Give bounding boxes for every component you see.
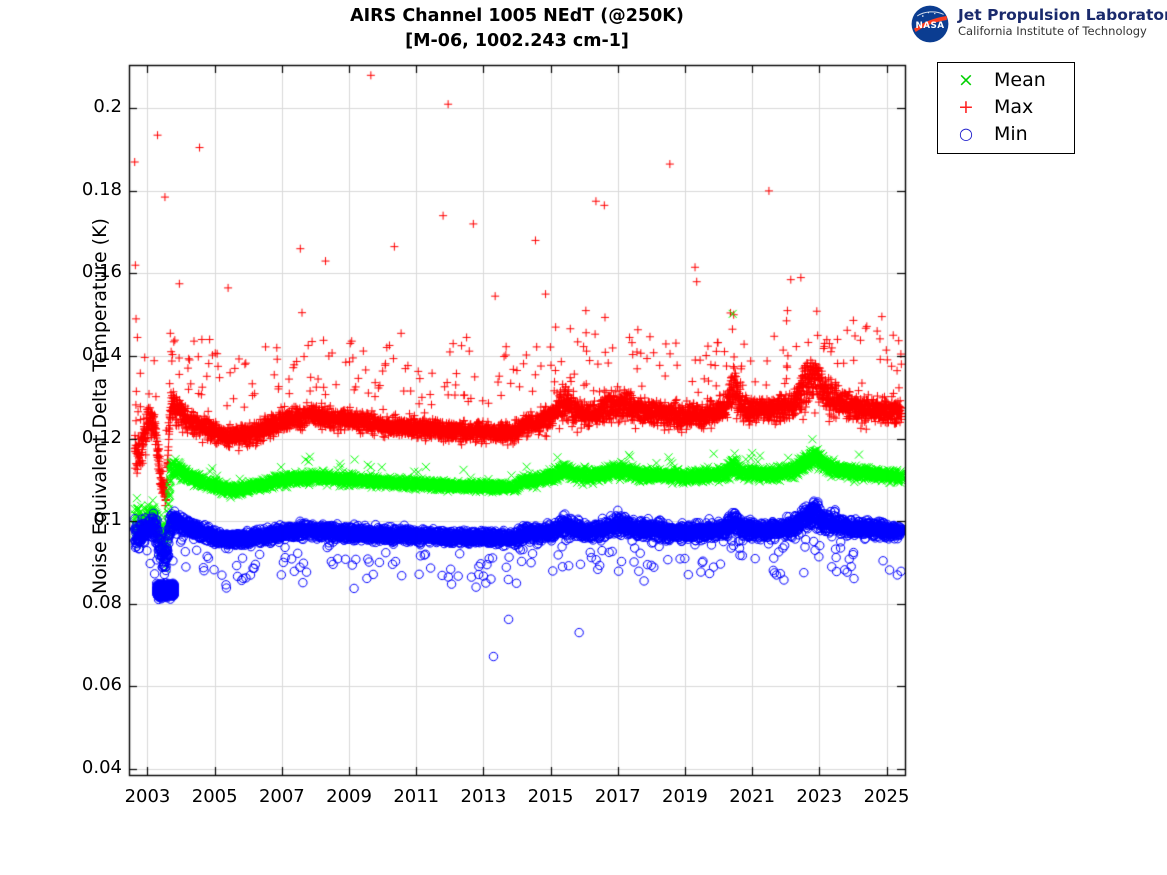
- chart-title-line1: AIRS Channel 1005 NEdT (@250K): [129, 4, 905, 29]
- x-tick-label: 2025: [847, 786, 927, 807]
- legend-label-min: Min: [994, 121, 1028, 147]
- y-tick-label: 0.04: [52, 757, 122, 778]
- legend-item-mean: × Mean: [938, 67, 1076, 93]
- y-tick-label: 0.16: [52, 261, 122, 282]
- legend-label-mean: Mean: [994, 67, 1046, 93]
- y-axis-tick-labels: 0.040.060.080.10.120.140.160.180.2: [48, 0, 122, 875]
- chart-legend: × Mean + Max ○ Min: [937, 62, 1075, 154]
- y-tick-label: 0.08: [52, 592, 122, 613]
- y-tick-label: 0.12: [52, 427, 122, 448]
- chart-title-line2: [M-06, 1002.243 cm-1]: [129, 29, 905, 54]
- svg-text:NASA: NASA: [916, 21, 945, 31]
- chart-title: AIRS Channel 1005 NEdT (@250K) [M-06, 10…: [129, 4, 905, 54]
- legend-item-min: ○ Min: [938, 121, 1076, 147]
- y-tick-label: 0.06: [52, 674, 122, 695]
- legend-marker-min-icon: ○: [938, 121, 994, 147]
- nasa-jpl-logo: NASA Jet Propulsion Laboratory Californi…: [908, 4, 1163, 44]
- x-axis-tick-labels: 2003200520072009201120132015201720192021…: [0, 786, 1167, 816]
- logo-line-caltech: California Institute of Technology: [958, 24, 1167, 39]
- y-tick-label: 0.18: [52, 179, 122, 200]
- y-tick-label: 0.14: [52, 344, 122, 365]
- legend-label-max: Max: [994, 94, 1033, 120]
- legend-item-max: + Max: [938, 94, 1076, 120]
- logo-line-jpl: Jet Propulsion Laboratory: [958, 6, 1167, 24]
- legend-marker-max-icon: +: [938, 94, 994, 120]
- logo-text-block: Jet Propulsion Laboratory California Ins…: [958, 6, 1167, 39]
- y-tick-label: 0.1: [52, 509, 122, 530]
- nasa-meatball-icon: NASA: [908, 4, 952, 44]
- y-tick-label: 0.2: [52, 96, 122, 117]
- legend-marker-mean-icon: ×: [938, 67, 994, 93]
